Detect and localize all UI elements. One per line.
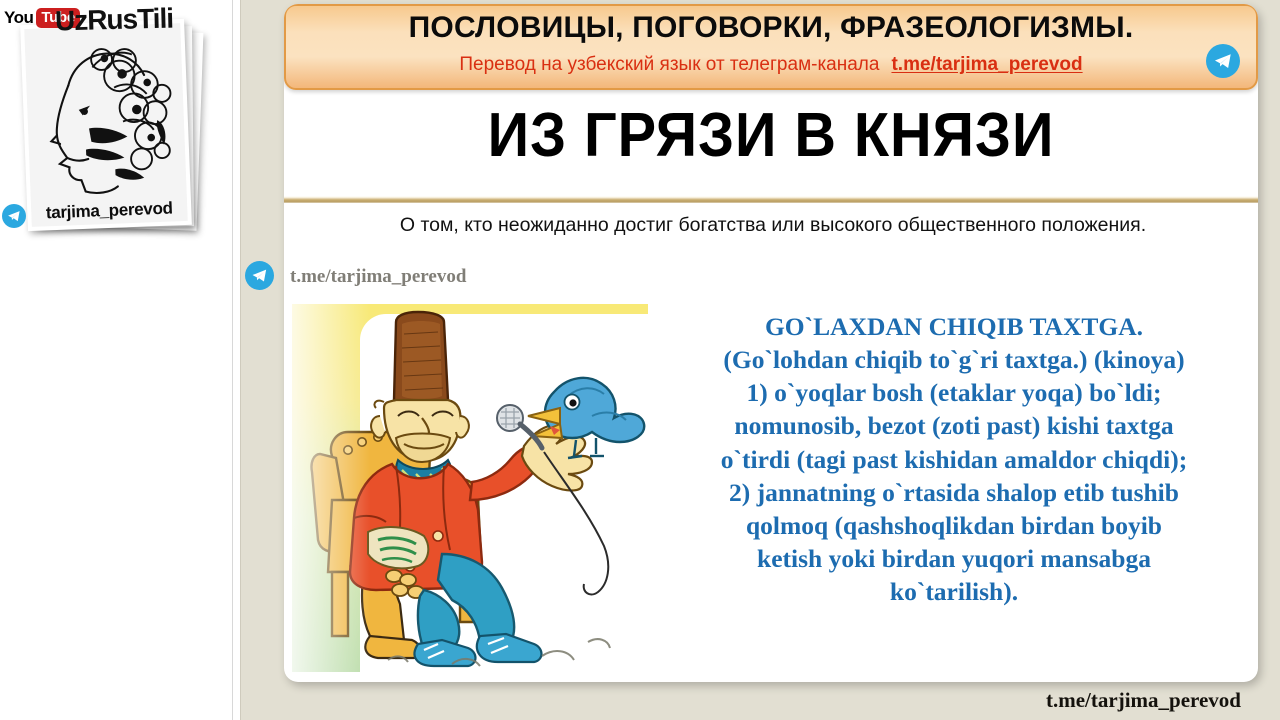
telegram-icon[interactable] [1206,44,1240,78]
gold-divider [284,196,1258,203]
translation-line: ko`tarilish). [656,575,1252,608]
banner-title: ПОСЛОВИЦЫ, ПОГОВОРКИ, ФРАЗЕОЛОГИЗМЫ. [286,11,1256,45]
canvas-gutter [240,0,281,720]
page-title: ИЗ ГРЯЗИ В КНЯЗИ [318,100,1224,171]
illustration-left-fade [292,304,648,672]
uzbek-translation-block: GO`LAXDAN CHIQIB TAXTGA. (Go`lohdan chiq… [656,310,1252,608]
translation-line: ketish yoki birdan yuqori mansabga [656,542,1252,575]
paper-plane-glyph [1212,50,1234,72]
translation-line: (Go`lohdan chiqib to`g`ri taxtga.) (kino… [656,343,1252,376]
portrait-image: tarjima_perevod [24,23,187,227]
translation-line: o`tirdi (tagi past kishidan amaldor chiq… [656,443,1252,476]
telegram-icon[interactable] [2,204,26,228]
translation-line: qolmoq (qashshoqlikdan birdan boyib [656,509,1252,542]
youtube-you-text: You [4,8,33,28]
translation-line: 1) o`yoqlar bosh (etaklar yoqa) bo`ldi; [656,376,1252,409]
photo-stack: tarjima_perevod [24,22,200,234]
definition-text: О том, кто неожиданно достиг богатства и… [336,212,1210,239]
photo-card-front: tarjima_perevod [20,19,192,231]
translation-line: GO`LAXDAN CHIQIB TAXTGA. [656,310,1252,343]
telegram-handle-link[interactable]: t.me/tarjima_perevod [891,54,1082,75]
channel-name: UzRusTili [55,3,174,38]
slide-page: tarjima_perevod You Tube UzRusTili ПОСЛО… [0,0,1280,720]
header-banner: ПОСЛОВИЦЫ, ПОГОВОРКИ, ФРАЗЕОЛОГИЗМЫ. Пер… [284,4,1258,90]
watermark-corner: t.me/tarjima_perevod [1046,688,1241,713]
paper-plane-glyph [6,208,22,224]
translation-line: nomunosib, bezot (zoti past) kishi taxtg… [656,409,1252,442]
telegram-icon[interactable] [245,261,274,290]
pushkin-portrait-icon [24,23,187,227]
banner-subtitle: Перевод на узбекский язык от телеграм-ка… [286,54,1256,76]
slide-card: ПОСЛОВИЦЫ, ПОГОВОРКИ, ФРАЗЕОЛОГИЗМЫ. Пер… [284,4,1258,682]
sidebar-channel-card: tarjima_perevod You Tube UzRusTili [0,0,233,720]
translation-line: 2) jannatning o`rtasida shalop etib tush… [656,476,1252,509]
illustration-cartoon [292,304,648,672]
paper-plane-glyph [250,266,269,285]
watermark-inline: t.me/tarjima_perevod [290,266,466,288]
banner-subtitle-text: Перевод на узбекский язык от телеграм-ка… [459,54,879,75]
